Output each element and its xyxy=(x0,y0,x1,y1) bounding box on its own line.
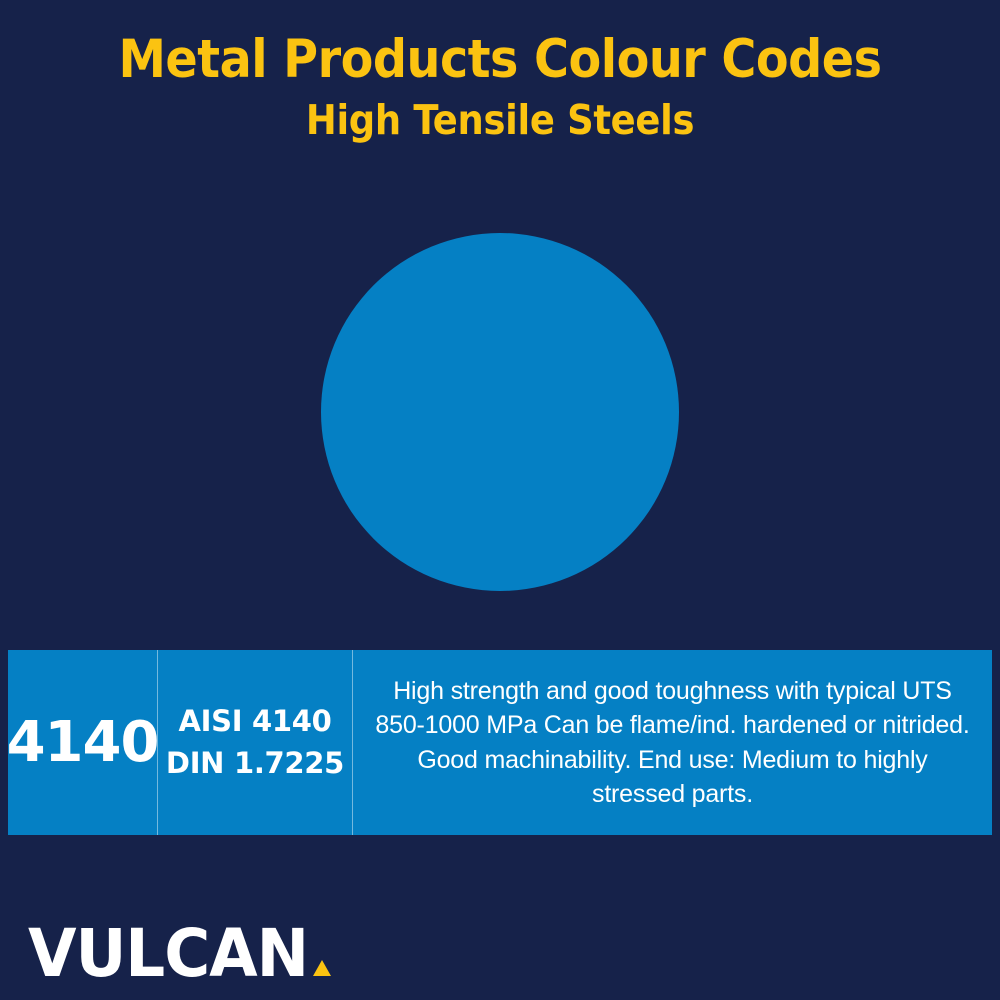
grade-code: 4140 xyxy=(7,715,159,771)
vulcan-logo: VULCAN xyxy=(28,916,333,982)
swatch-area xyxy=(0,0,1000,1000)
material-info-bar: 4140 AISI 4140 DIN 1.7225 High strength … xyxy=(8,650,992,835)
card-header: Metal Products Colour Codes High Tensile… xyxy=(0,0,1000,145)
vulcan-wordmark: VULCAN xyxy=(28,916,308,982)
material-description: High strength and good toughness with ty… xyxy=(375,674,970,812)
page-title: Metal Products Colour Codes xyxy=(0,0,1000,89)
grade-code-cell: 4140 xyxy=(8,650,158,835)
triangle-dot-icon xyxy=(313,960,331,976)
standard-din: DIN 1.7225 xyxy=(166,743,344,784)
standards-cell: AISI 4140 DIN 1.7225 xyxy=(158,650,353,835)
colour-swatch-circle xyxy=(321,233,679,591)
page-subtitle: High Tensile Steels xyxy=(0,89,1000,144)
standard-aisi: AISI 4140 xyxy=(178,701,331,742)
colour-code-card: Metal Products Colour Codes High Tensile… xyxy=(0,0,1000,1000)
brand-footer: VULCAN xyxy=(28,916,333,982)
description-cell: High strength and good toughness with ty… xyxy=(353,650,992,835)
